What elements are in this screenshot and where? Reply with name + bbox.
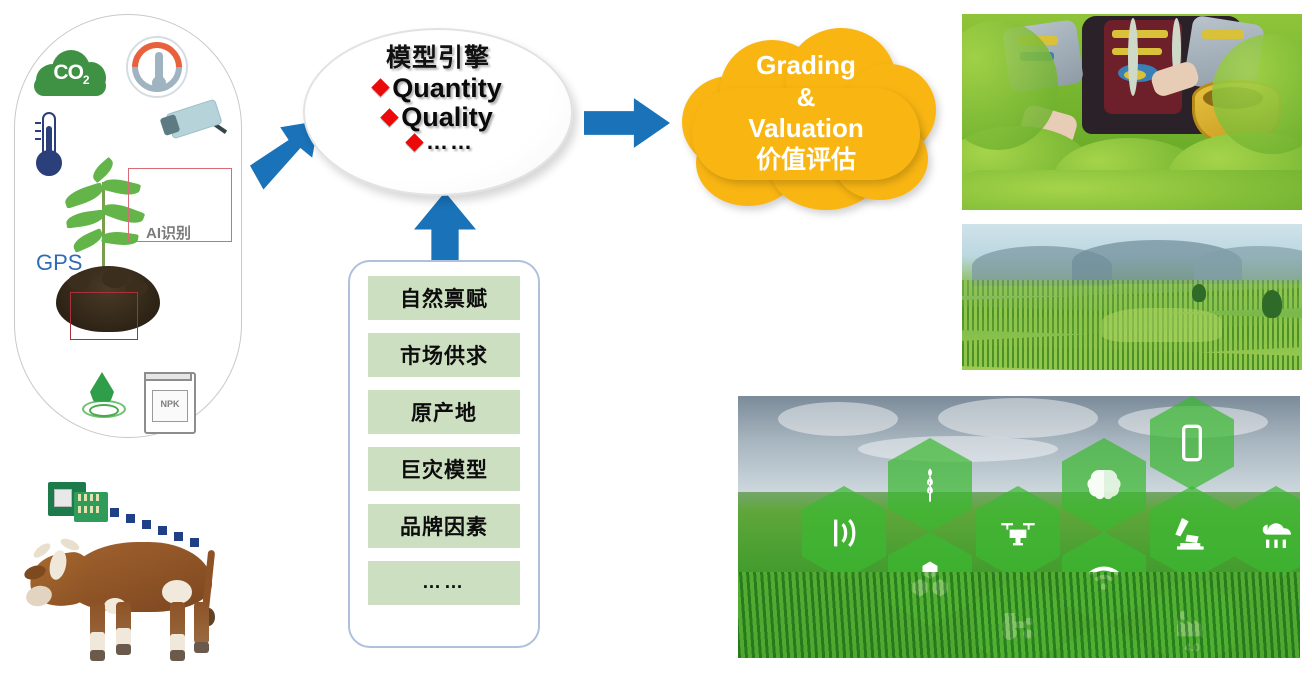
ai-detection-label: AI识别 — [146, 222, 191, 243]
factor-item[interactable]: 品牌因素 — [368, 504, 520, 548]
co2-subscript: 2 — [83, 73, 89, 87]
wheat-icon — [888, 438, 972, 532]
red-diamond-icon — [372, 78, 390, 96]
soil-detection-box — [70, 292, 138, 340]
model-bullet-ellipsis: …… — [408, 129, 474, 155]
factor-item[interactable]: …… — [368, 561, 520, 605]
surveillance-camera-icon — [160, 98, 232, 152]
npk-label: NPK — [153, 399, 187, 409]
cow-photo — [20, 528, 250, 670]
cloud-text: Grading & Valuation 价值评估 — [676, 50, 936, 176]
cloud-line-4: 价值评估 — [676, 145, 936, 176]
temperature-gauge-icon — [126, 36, 188, 98]
red-diamond-icon — [405, 133, 423, 151]
factor-item[interactable]: 巨灾模型 — [368, 447, 520, 491]
valuation-factor-list: 自然禀赋 市场供求 原产地 巨灾模型 品牌因素 …… — [348, 260, 540, 648]
cloud-line-3: Valuation — [676, 113, 936, 145]
model-engine-node: 模型引擎 Quantity Quality …… — [303, 28, 573, 196]
gps-label: GPS — [36, 250, 82, 276]
factor-item[interactable]: 自然禀赋 — [368, 276, 520, 320]
co2-cloud-icon: CO2 — [32, 48, 110, 98]
photo-smart-agriculture: 4.0 — [738, 396, 1300, 658]
model-bullet-label: Quantity — [392, 74, 502, 102]
drone-icon — [976, 486, 1060, 580]
signal-icon — [802, 486, 886, 580]
arrow-engine-to-cloud — [584, 96, 670, 150]
robot-arm-icon — [1150, 486, 1234, 580]
model-bullet-label: Quality — [401, 103, 493, 131]
factor-item[interactable]: 原产地 — [368, 390, 520, 434]
photo-tea-field — [962, 224, 1302, 370]
water-drop-icon — [80, 372, 124, 422]
red-diamond-icon — [381, 108, 399, 126]
model-engine-title: 模型引擎 — [386, 45, 490, 73]
cloud-line-2: & — [676, 82, 936, 114]
circuit-board-chip-icon — [48, 482, 110, 526]
smartphone-icon — [1150, 396, 1234, 490]
arrow-factors-to-engine — [414, 192, 476, 270]
model-bullet-quantity: Quantity — [374, 74, 502, 102]
brain-ai-icon — [1062, 438, 1146, 532]
model-bullet-label: …… — [426, 129, 474, 155]
cloud-upload-icon — [1234, 486, 1300, 580]
factor-item[interactable]: 市场供求 — [368, 333, 520, 377]
model-bullet-quality: Quality — [383, 103, 493, 131]
npk-fertilizer-bag-icon: NPK — [144, 372, 196, 434]
co2-label: CO — [53, 61, 83, 84]
cloud-line-1: Grading — [676, 50, 936, 82]
grading-valuation-cloud: Grading & Valuation 价值评估 — [676, 22, 936, 212]
photo-tea-picker — [962, 14, 1302, 210]
